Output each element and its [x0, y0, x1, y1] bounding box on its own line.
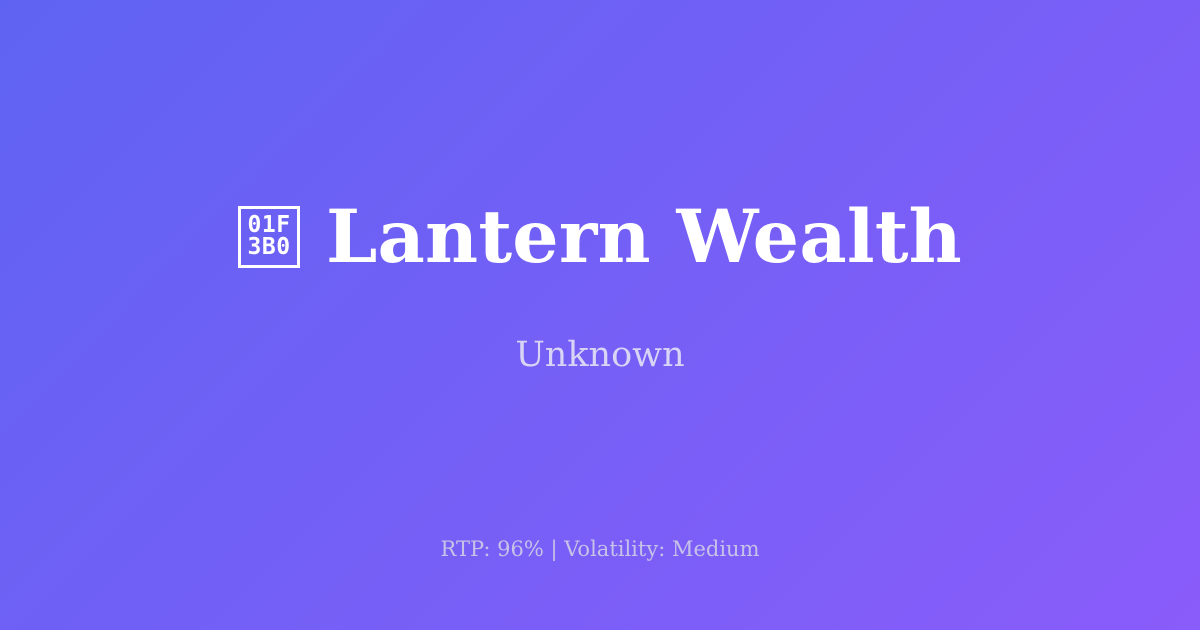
card-footer: RTP: 96% | Volatility: Medium [0, 537, 1200, 562]
page-title: Lantern Wealth [326, 201, 962, 274]
card-main-content: 01F 3B0 Lantern Wealth Unknown [0, 0, 1200, 630]
page-subtitle: Unknown [515, 334, 684, 376]
slot-machine-icon: 01F 3B0 [238, 206, 300, 268]
game-meta-line: RTP: 96% | Volatility: Medium [0, 537, 1200, 562]
slot-machine-icon-codepoint-bottom: 3B0 [248, 237, 291, 259]
title-row: 01F 3B0 Lantern Wealth [238, 201, 962, 274]
open-graph-card: 01F 3B0 Lantern Wealth Unknown RTP: 96% … [0, 0, 1200, 630]
